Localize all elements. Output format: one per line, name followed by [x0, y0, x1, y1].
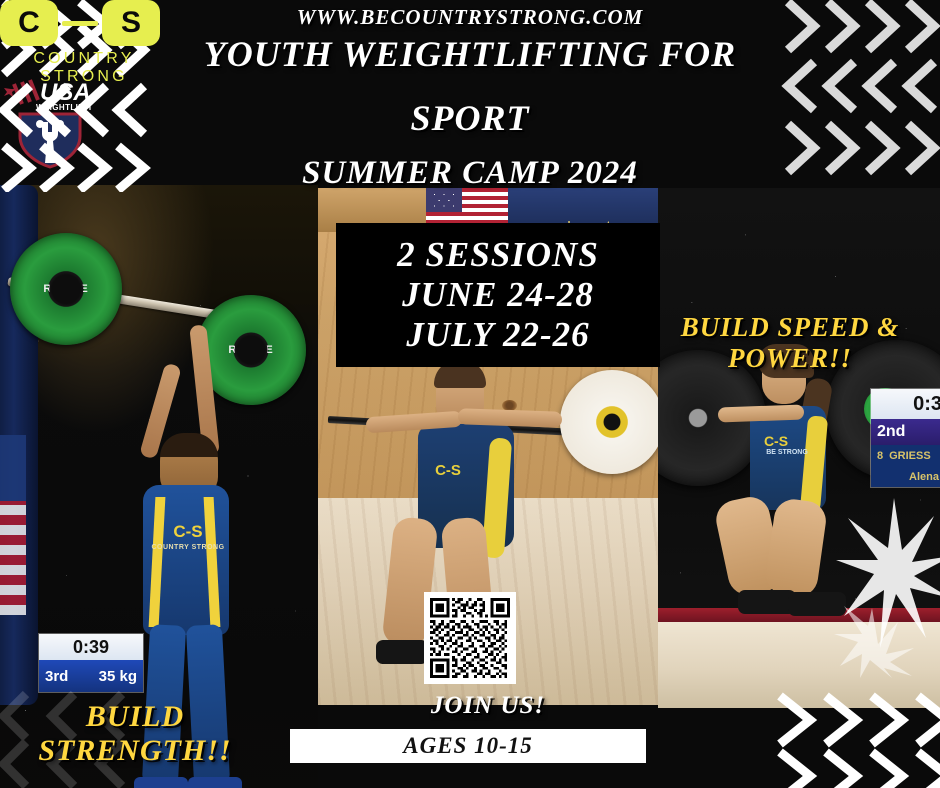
- photo-left-overhead-lift: ROGUE ROGUE C-S COUNTRY STRONG 0:39 3rd …: [0, 185, 318, 788]
- athlete-arm-right-photo: [718, 405, 804, 423]
- scoreboard-left: 0:39 3rd 35 kg: [38, 633, 144, 693]
- singlet-logo-text: C-S: [166, 521, 210, 543]
- photo-right-clean-catch: C-S BE STRONG 0:3 2nd 8 GRIESS Alena: [658, 188, 940, 708]
- title-line-2: SPORT: [0, 97, 940, 139]
- athlete-shoe-center-left: [376, 640, 428, 664]
- scoreboard-lot: 8: [877, 450, 883, 462]
- scoreboard-place-right: 2nd: [871, 419, 940, 445]
- join-us-text: JOIN US!: [318, 692, 658, 720]
- scoreboard-lastname-row: 8 GRIESS: [871, 445, 940, 467]
- cta-strength-line-1: BUILD: [0, 700, 270, 734]
- singlet-logo-center: C-S: [428, 460, 468, 480]
- singlet-logo-sub: COUNTRY STRONG: [148, 541, 228, 553]
- plate-green-left: ROGUE: [10, 233, 122, 345]
- scoreboard-weight: 35 kg: [99, 668, 137, 685]
- scoreboard-firstname: Alena: [871, 467, 940, 487]
- cta-build-strength: BUILD STRENGTH!!: [0, 700, 270, 768]
- scoreboard-timer-right: 0:3: [871, 389, 940, 419]
- athlete-shoe-right: [188, 777, 242, 788]
- sessions-info-box: 2 SESSIONS JUNE 24-28 JULY 22-26: [338, 225, 658, 365]
- plate-label-right: ROGUE: [196, 344, 306, 356]
- plate-white-center: [560, 370, 658, 474]
- scoreboard-lastname: GRIESS: [889, 450, 931, 462]
- plate-label-left: ROGUE: [10, 283, 122, 295]
- singlet-sub-right: BE STRONG: [750, 446, 824, 458]
- cta-speed-power-line-2: POWER!!: [640, 343, 940, 374]
- flag-strip: [0, 435, 26, 615]
- ages-banner: AGES 10-15: [290, 729, 646, 763]
- cta-speed-power-line-1: BUILD SPEED &: [640, 312, 940, 343]
- qr-code[interactable]: [424, 592, 516, 684]
- qr-code-graphic: [430, 598, 510, 678]
- cta-speed-power: BUILD SPEED & POWER!!: [640, 312, 940, 374]
- title-line-3: SUMMER CAMP 2024: [0, 155, 940, 192]
- flyer-canvas: ROGUE ROGUE C-S COUNTRY STRONG 0:39 3rd …: [0, 0, 940, 788]
- sessions-date-2: JULY 22-26: [406, 315, 589, 355]
- athlete-shoe-left: [134, 777, 188, 788]
- athlete-shoe-right-2: [788, 592, 846, 616]
- scoreboard-timer: 0:39: [39, 634, 143, 660]
- sessions-date-1: JUNE 24-28: [402, 275, 594, 315]
- competition-platform: [658, 622, 940, 708]
- ages-text: AGES 10-15: [403, 733, 533, 759]
- cta-strength-line-2: STRENGTH!!: [0, 734, 270, 768]
- website-url: WWW.BECOUNTRYSTRONG.COM: [0, 5, 940, 30]
- sessions-heading: 2 SESSIONS: [397, 235, 599, 275]
- scoreboard-place: 3rd: [45, 668, 68, 685]
- scoreboard-right: 0:3 2nd 8 GRIESS Alena: [870, 388, 940, 488]
- scoreboard-result: 3rd 35 kg: [39, 660, 143, 692]
- title-line-1: YOUTH WEIGHTLIFTING FOR: [0, 33, 940, 75]
